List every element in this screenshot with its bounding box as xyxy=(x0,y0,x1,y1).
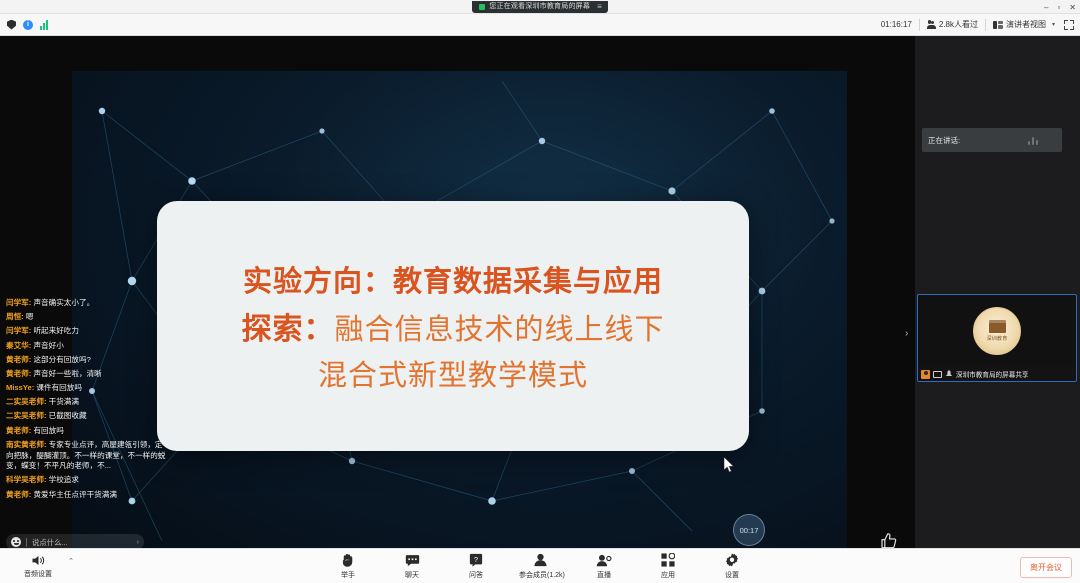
chat-message: 周恒: 嗯 xyxy=(6,312,166,323)
chat-overlay-list: 闫学军: 声音确实太小了。 周恒: 嗯 闫学军: 听起来好吃力 秦艾华: 声音好… xyxy=(6,298,166,504)
minimize-button[interactable]: – xyxy=(1044,3,1048,12)
screen-share-icon xyxy=(933,371,942,378)
chat-message: 二实吴老师: 已截图收藏 xyxy=(6,411,166,422)
live-broadcast-button[interactable]: 直播 xyxy=(583,552,625,580)
chat-input[interactable]: 说点什么... xyxy=(32,537,132,548)
thumbnail-name: 深圳市教育局的屏幕共享 xyxy=(956,369,1029,379)
chat-text: 声音确实太小了。 xyxy=(33,298,94,307)
toolbar-divider xyxy=(919,19,920,31)
like-button[interactable]: 7116 xyxy=(875,531,903,548)
slide-heading-line3: 混合式新型教学模式 xyxy=(318,352,588,394)
chat-author: 科学吴老师: xyxy=(6,475,47,484)
apps-label: 应用 xyxy=(647,570,689,580)
screen-share-thumbnail[interactable]: 深圳教育 深圳市教育局的屏幕共享 xyxy=(917,294,1077,382)
audio-settings-button[interactable]: 音频设置 ⌃ xyxy=(8,553,68,579)
fullscreen-icon[interactable] xyxy=(1064,20,1074,30)
book-icon xyxy=(989,320,1006,333)
avatar-icon xyxy=(921,370,930,379)
mouse-cursor-icon xyxy=(724,457,735,473)
elapsed-time: 01:16:17 xyxy=(881,20,912,29)
slide-line2-keyword: 探索： xyxy=(241,304,334,348)
signal-bars-icon[interactable] xyxy=(40,20,48,30)
viewer-count-label: 2.8k人看过 xyxy=(939,19,978,30)
chat-message: 南实黄老师: 专家专业点评，高屋建瓴引领，定向把脉，醍醐灌顶。不一样的课堂，不一… xyxy=(6,440,166,472)
chat-author: 黄老师: xyxy=(6,490,31,499)
chat-text: 嗯 xyxy=(26,312,34,321)
participants-icon xyxy=(519,552,561,568)
sharing-active-dot xyxy=(479,4,485,10)
topbar-right-controls: 01:16:17 2.8k人看过 演讲者视图 ▾ xyxy=(881,19,1080,31)
toolbar-divider xyxy=(985,19,986,31)
chat-author: 黄老师: xyxy=(6,355,31,364)
share-menu-icon[interactable]: ≡ xyxy=(597,1,601,13)
raise-hand-button[interactable]: 举手 xyxy=(327,552,369,580)
apps-icon xyxy=(647,552,689,568)
raise-hand-label: 举手 xyxy=(327,570,369,580)
chat-message: 黄老师: 这部分有回放吗? xyxy=(6,355,166,366)
logo-text: 深圳教育 xyxy=(987,335,1008,342)
chat-author: 闫学军: xyxy=(6,298,31,307)
qa-icon: ? xyxy=(455,552,497,568)
settings-gear-icon xyxy=(711,552,753,568)
presentation-slide-card: 实验方向：教育数据采集与应用 探索： 融合信息技术的线上线下 混合式新型教学模式 xyxy=(157,201,749,451)
chat-message: MissYe: 课件有回放吗 xyxy=(6,383,166,394)
chevron-down-icon[interactable]: ▾ xyxy=(1052,21,1055,28)
settings-label: 设置 xyxy=(711,570,753,580)
chat-author: 二实吴老师: xyxy=(6,397,47,406)
chat-message: 黄老师: 声音好一些啦，清晰 xyxy=(6,369,166,380)
chat-text: 课件有回放吗 xyxy=(36,383,82,392)
participants-label: 参会成员(1.2k) xyxy=(519,570,561,580)
screen-share-notice-pill[interactable]: 您正在观看深圳市教育局的屏幕 ≡ xyxy=(472,1,607,13)
chat-text: 声音好小 xyxy=(33,341,63,350)
chat-label: 聊天 xyxy=(391,570,433,580)
chat-text: 黄爱华主任点评干货满满 xyxy=(33,490,117,499)
qa-label: 问答 xyxy=(455,570,497,580)
presentation-timer-bubble[interactable]: 00:17 xyxy=(733,514,765,546)
viewer-count[interactable]: 2.8k人看过 xyxy=(927,19,978,30)
raise-hand-icon xyxy=(327,552,369,568)
chat-text: 声音好一些啦，清晰 xyxy=(33,369,101,378)
shield-icon[interactable] xyxy=(7,20,16,30)
chat-author: 闫学军: xyxy=(6,326,31,335)
shared-screen-content: 实验方向：教育数据采集与应用 探索： 融合信息技术的线上线下 混合式新型教学模式 xyxy=(72,71,847,548)
participants-video-panel: 正在讲话: 深圳教育 深圳市教育局的屏幕共享 xyxy=(915,36,1080,548)
share-notice-text: 您正在观看深圳市教育局的屏幕 xyxy=(489,1,590,13)
chat-text: 有回放吗 xyxy=(33,426,63,435)
view-mode-label: 演讲者视图 xyxy=(1006,19,1046,30)
thumbs-up-icon xyxy=(879,531,899,548)
chat-text: 学校追求 xyxy=(49,475,79,484)
svg-text:?: ? xyxy=(474,555,478,564)
shared-screen-area[interactable]: 实验方向：教育数据采集与应用 探索： 融合信息技术的线上线下 混合式新型教学模式… xyxy=(0,36,915,548)
chat-icon xyxy=(391,552,433,568)
chat-author: MissYe: xyxy=(6,383,34,392)
chat-text: 听起来好吃力 xyxy=(33,326,79,335)
organization-logo: 深圳教育 xyxy=(973,307,1021,355)
chat-input-divider xyxy=(26,538,27,547)
active-speaker-tile[interactable]: 正在讲话: xyxy=(922,128,1062,152)
chat-message: 二实吴老师: 干货满满 xyxy=(6,397,166,408)
chat-author: 黄老师: xyxy=(6,426,31,435)
meeting-stage: 实验方向：教育数据采集与应用 探索： 融合信息技术的线上线下 混合式新型教学模式… xyxy=(0,36,1080,548)
live-broadcast-label: 直播 xyxy=(583,570,625,580)
chat-message: 秦艾华: 声音好小 xyxy=(6,341,166,352)
qa-button[interactable]: ? 问答 xyxy=(455,552,497,580)
audio-waveform-icon xyxy=(1028,136,1039,145)
participants-button[interactable]: 参会成员(1.2k) xyxy=(519,552,561,580)
chevron-up-icon[interactable]: ⌃ xyxy=(68,557,74,565)
thumbnail-name-bar: 深圳市教育局的屏幕共享 xyxy=(918,367,1076,381)
chat-author: 二实吴老师: xyxy=(6,411,47,420)
window-controls: – ▫ ✕ xyxy=(1044,0,1076,14)
chat-author: 秦艾华: xyxy=(6,341,31,350)
close-button[interactable]: ✕ xyxy=(1069,3,1076,12)
toolbar-tools: 举手 聊天 ? 问答 xyxy=(327,552,753,580)
view-mode-selector[interactable]: 演讲者视图 ▾ xyxy=(993,19,1055,30)
chat-text: 这部分有回放吗? xyxy=(33,355,90,364)
meeting-top-toolbar: i 01:16:17 2.8k人看过 演讲者视图 ▾ xyxy=(0,14,1080,36)
apps-button[interactable]: 应用 xyxy=(647,552,689,580)
meeting-bottom-toolbar: 音频设置 ⌃ 举手 聊天 xyxy=(0,548,1080,583)
topbar-left-icons: i xyxy=(0,20,48,30)
settings-button[interactable]: 设置 xyxy=(711,552,753,580)
leave-meeting-button[interactable]: 离开会议 xyxy=(1020,557,1072,578)
chat-message: 黄老师: 黄爱华主任点评干货满满 xyxy=(6,490,166,501)
audio-settings-label: 音频设置 xyxy=(8,569,68,579)
emoji-icon[interactable] xyxy=(11,537,21,547)
chat-author: 南实黄老师: xyxy=(6,440,47,449)
chat-author: 黄老师: xyxy=(6,369,31,378)
chat-input-bar[interactable]: 说点什么... › xyxy=(6,534,144,548)
chat-message: 闫学军: 声音确实太小了。 xyxy=(6,298,166,309)
chat-message: 闫学军: 听起来好吃力 xyxy=(6,326,166,337)
speaker-icon xyxy=(8,553,68,568)
layout-view-icon xyxy=(993,21,1003,29)
chat-message: 科学吴老师: 学校追求 xyxy=(6,475,166,486)
slide-line2-body: 融合信息技术的线上线下 xyxy=(334,306,664,348)
info-icon[interactable]: i xyxy=(23,20,33,30)
people-icon xyxy=(927,20,936,29)
maximize-button[interactable]: ▫ xyxy=(1057,3,1060,12)
chat-message: 黄老师: 有回放吗 xyxy=(6,426,166,437)
slide-heading-line2: 探索： 融合信息技术的线上线下 xyxy=(241,304,664,348)
slide-heading-line1: 实验方向：教育数据采集与应用 xyxy=(243,258,663,300)
chat-text: 已截图收藏 xyxy=(49,411,87,420)
live-broadcast-icon xyxy=(583,552,625,568)
chat-text: 干货满满 xyxy=(49,397,79,406)
active-speaker-label: 正在讲话: xyxy=(928,135,960,146)
chat-send-icon[interactable]: › xyxy=(137,539,139,546)
chat-button[interactable]: 聊天 xyxy=(391,552,433,580)
pin-icon[interactable] xyxy=(945,370,953,378)
chat-author: 周恒: xyxy=(6,312,24,321)
collapse-panel-arrow-icon[interactable]: › xyxy=(905,328,908,339)
window-titlebar: 您正在观看深圳市教育局的屏幕 ≡ – ▫ ✕ xyxy=(0,0,1080,14)
